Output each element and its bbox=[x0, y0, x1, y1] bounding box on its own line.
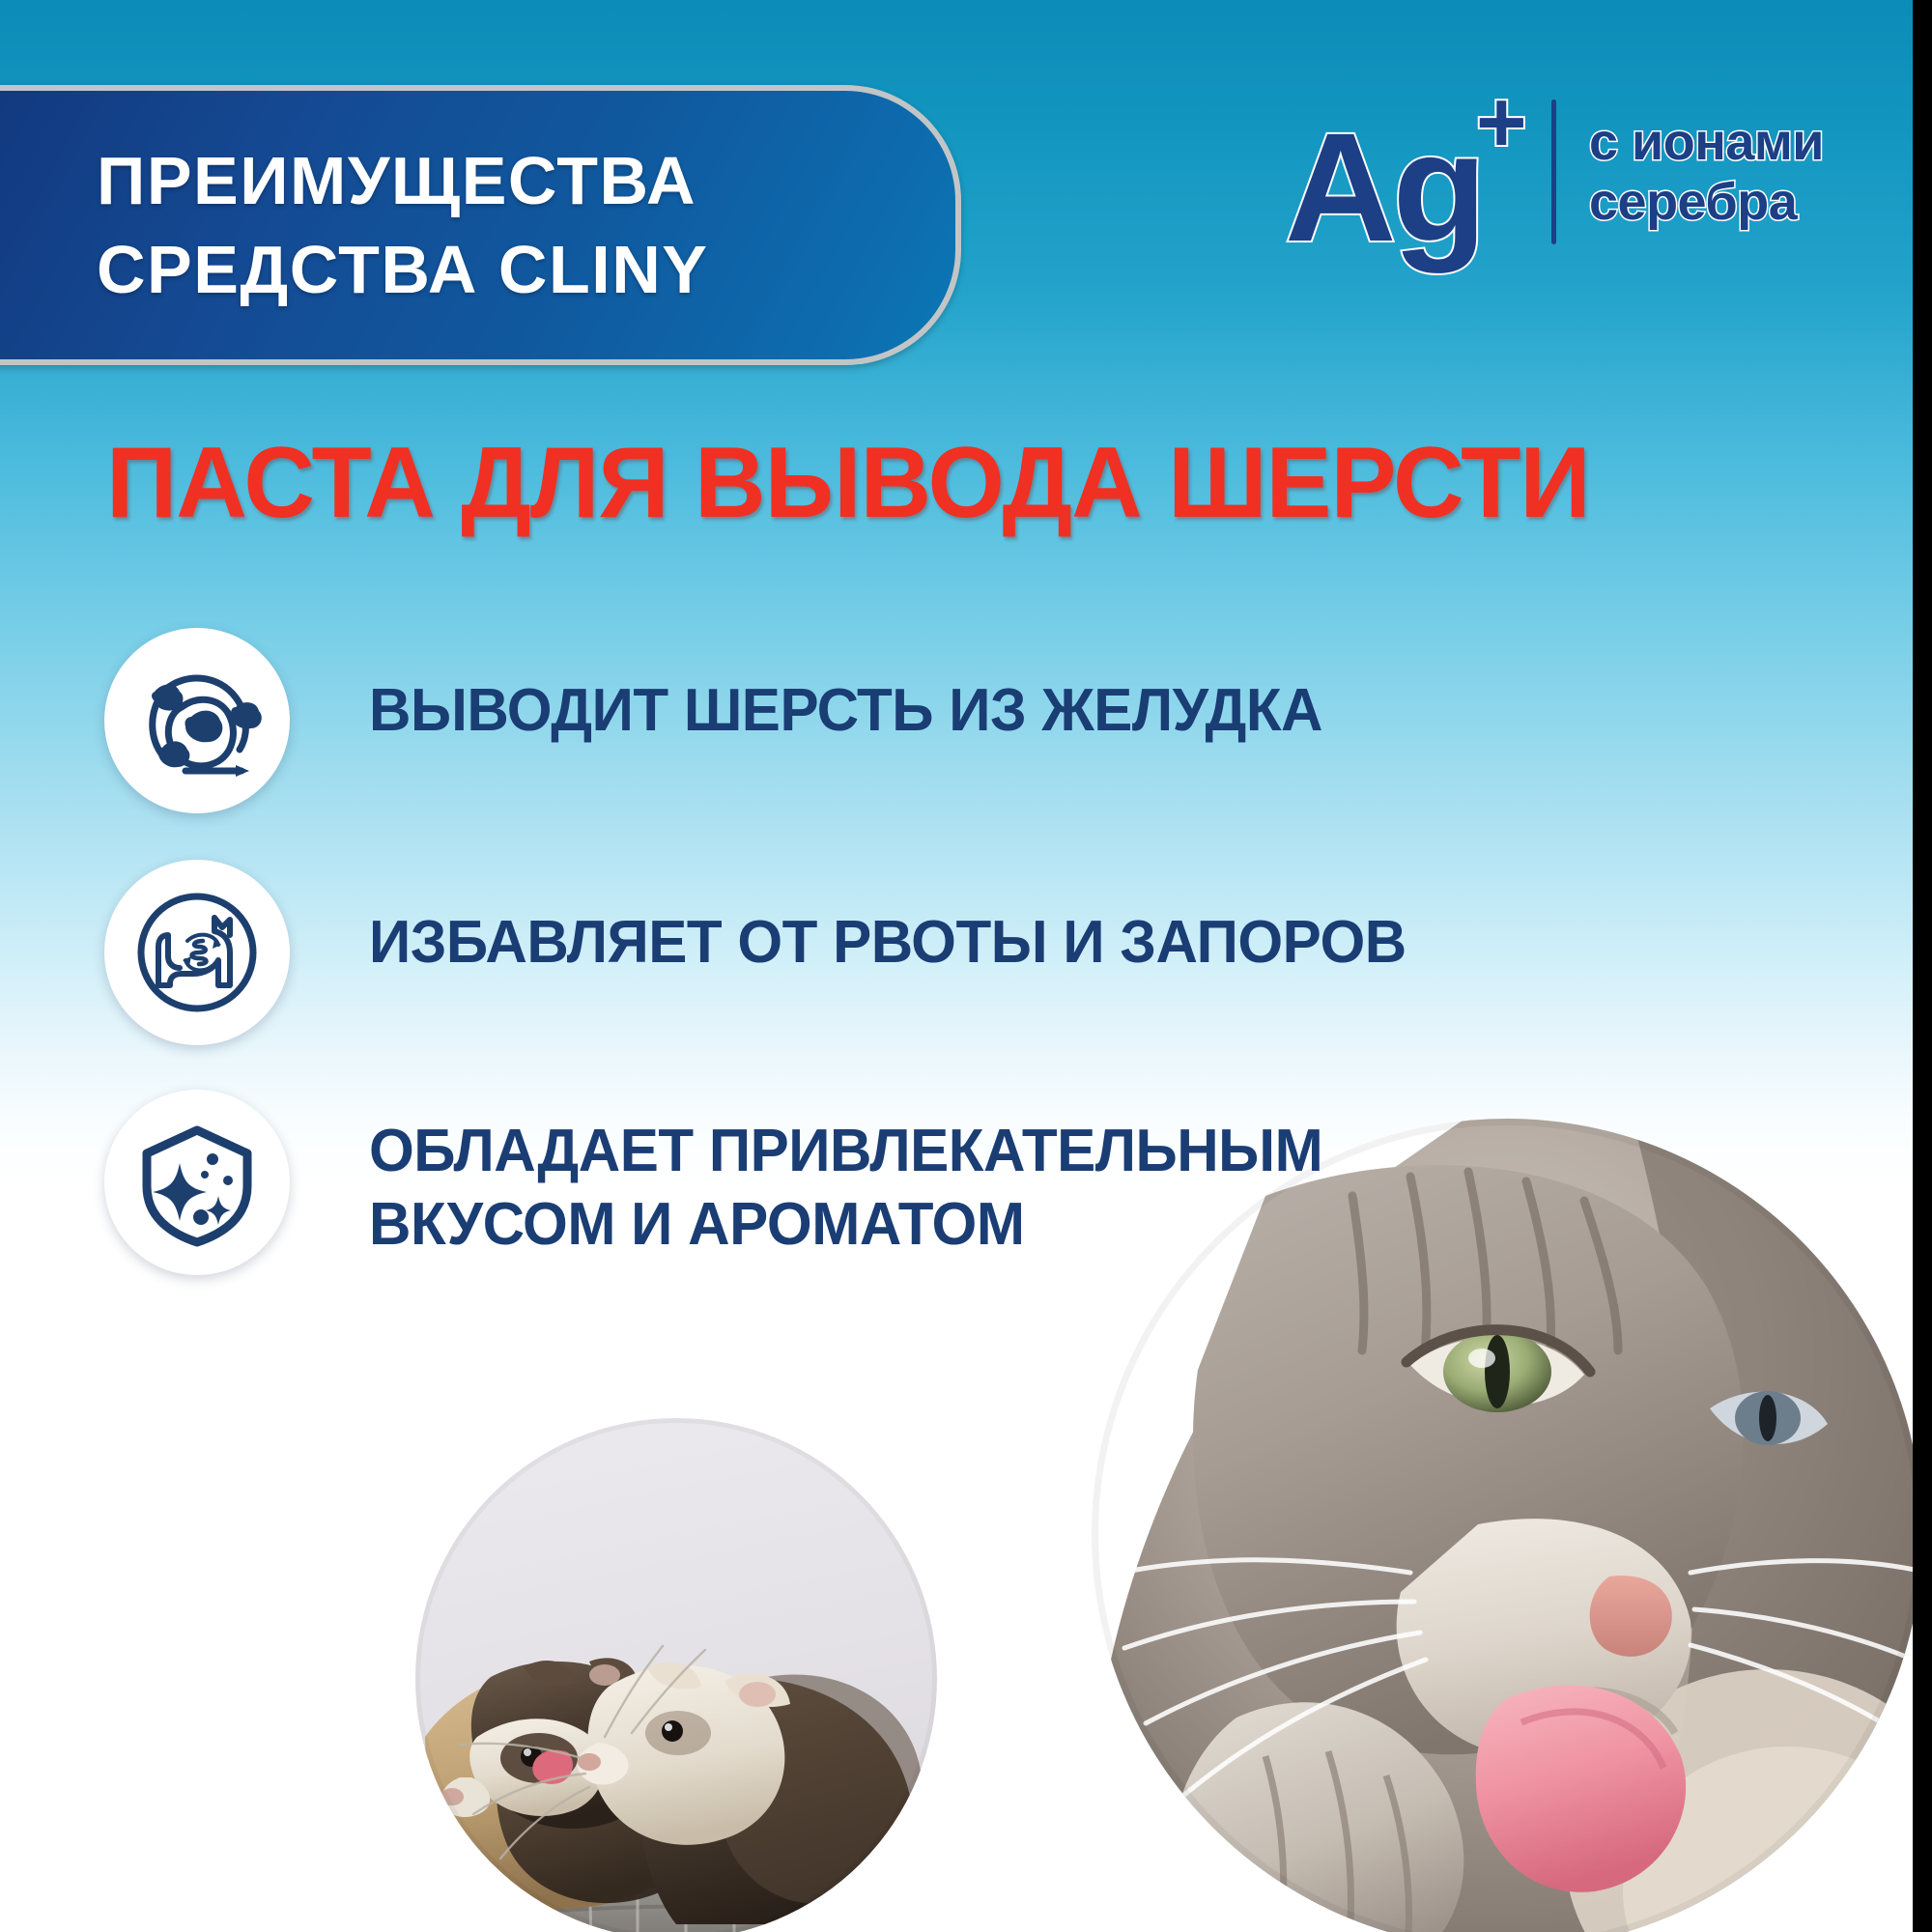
plus-superscript-icon: + bbox=[1476, 79, 1527, 166]
banner-line-2: СРЕДСТВА CLINY bbox=[97, 225, 955, 314]
benefit-label-hairball-removal: ВЫВОДИТ ШЕРСТЬ ИЗ ЖЕЛУДКА bbox=[369, 628, 1322, 748]
product-benefits-poster: ПРЕИМУЩЕСТВА СРЕДСТВА CLINY Ag + с ионам… bbox=[0, 0, 1932, 1932]
benefit-label-vomit-constipation: ИЗБАВЛЯЕТ ОТ РВОТЫ И ЗАПОРОВ bbox=[369, 860, 1406, 980]
orbit-hairball-icon bbox=[104, 628, 290, 813]
header-banner: ПРЕИМУЩЕСТВА СРЕДСТВА CLINY bbox=[0, 85, 961, 365]
logo-tagline-line-2: серебра bbox=[1589, 174, 1797, 230]
banner-line-1: ПРЕИМУЩЕСТВА bbox=[97, 136, 955, 225]
cat-digestion-icon bbox=[104, 860, 290, 1045]
benefit-label-taste-aroma-line-2: ВКУСОМ И АРОМАТОМ bbox=[369, 1188, 1322, 1262]
benefit-label-taste-aroma-line-1: ОБЛАДАЕТ ПРИВЛЕКАТЕЛЬНЫМ bbox=[369, 1115, 1322, 1188]
logo-tagline-line-1: с ионами bbox=[1589, 114, 1824, 170]
ferrets-photo bbox=[415, 1418, 937, 1932]
right-edge-border bbox=[1913, 0, 1932, 1932]
shield-sparkle-icon bbox=[104, 1090, 290, 1275]
ag-symbol-mark: Ag + bbox=[1285, 75, 1546, 269]
benefit-item-hairball-removal: ВЫВОДИТ ШЕРСТЬ ИЗ ЖЕЛУДКА bbox=[104, 628, 1457, 813]
benefit-item-vomit-constipation: ИЗБАВЛЯЕТ ОТ РВОТЫ И ЗАПОРОВ bbox=[104, 860, 1457, 1045]
page-title: ПАСТА ДЛЯ ВЫВОДА ШЕРСТИ bbox=[106, 433, 1810, 533]
benefit-label-taste-aroma: ОБЛАДАЕТ ПРИВЛЕКАТЕЛЬНЫМ ВКУСОМ И АРОМАТ… bbox=[369, 1090, 1322, 1261]
ag-element-symbol: Ag bbox=[1285, 110, 1483, 265]
logo-tagline: с ионами серебра bbox=[1589, 114, 1824, 231]
silver-ions-logo: Ag + с ионами серебра bbox=[1285, 75, 1903, 269]
vertical-divider-icon bbox=[1551, 99, 1556, 244]
benefit-item-taste-aroma: ОБЛАДАЕТ ПРИВЛЕКАТЕЛЬНЫМ ВКУСОМ И АРОМАТ… bbox=[104, 1090, 1457, 1275]
ferrets-photo-illustration bbox=[415, 1418, 937, 1932]
